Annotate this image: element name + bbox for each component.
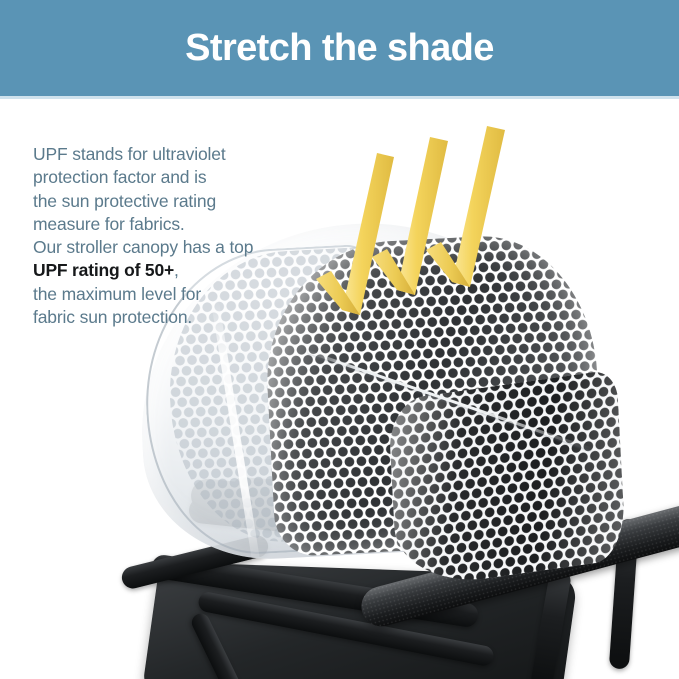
upf-rating-emphasis: UPF rating of 50+	[33, 260, 174, 280]
header-banner: Stretch the shade	[0, 0, 679, 96]
page-title: Stretch the shade	[185, 29, 494, 67]
copy-line-3: the sun protective rating	[33, 190, 333, 213]
upf-rating-comma: ,	[174, 260, 179, 280]
copy-line-1: UPF stands for ultraviolet	[33, 143, 333, 166]
copy-line-5: Our stroller canopy has a top	[33, 236, 333, 259]
page-root: Stretch the shade	[0, 0, 679, 679]
copy-line-7: fabric sun protection.	[33, 306, 333, 329]
copy-line-6: the maximum level for	[33, 283, 333, 306]
copy-line-emphasis: UPF rating of 50+,	[33, 259, 333, 282]
body-copy: UPF stands for ultraviolet protection fa…	[33, 143, 333, 329]
copy-line-4: measure for fabrics.	[33, 213, 333, 236]
copy-line-2: protection factor and is	[33, 166, 333, 189]
